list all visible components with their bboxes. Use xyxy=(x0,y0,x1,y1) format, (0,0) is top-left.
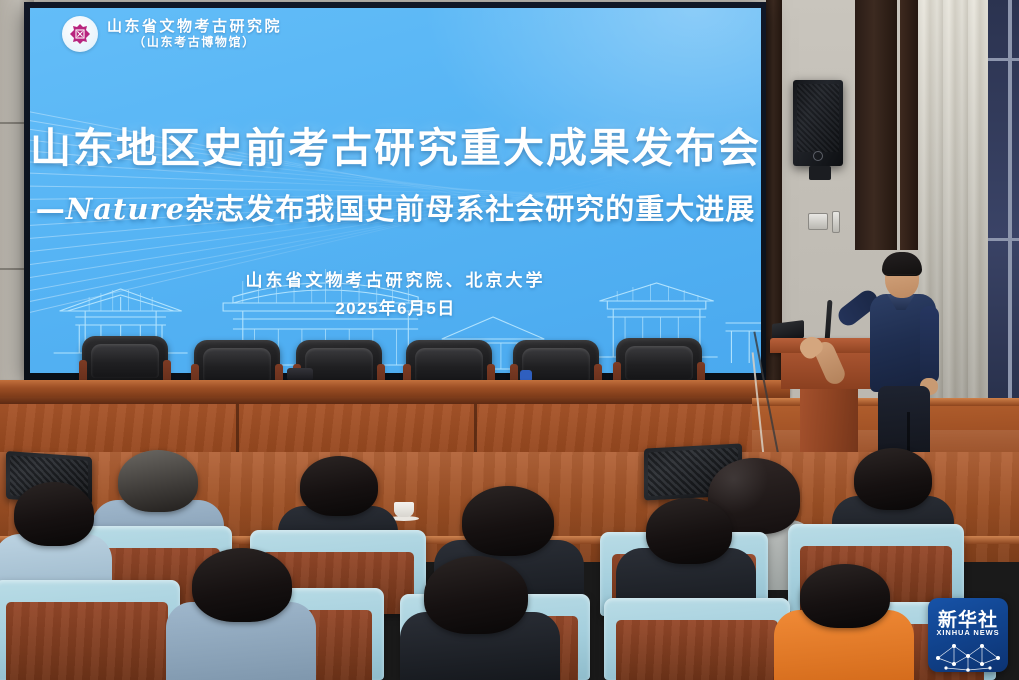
audience-foreground xyxy=(0,452,1019,680)
audience-head xyxy=(118,450,198,512)
audience-head xyxy=(646,498,732,564)
slide-subtitle: —Nature杂志发布我国史前母系社会研究的重大进展 xyxy=(30,186,761,228)
speaker-mount-bracket xyxy=(809,166,831,180)
audience-seat[interactable] xyxy=(0,580,180,680)
slide-date: 2025年6月5日 xyxy=(30,294,761,319)
audience-head xyxy=(192,548,292,622)
xinhua-network-icon xyxy=(928,638,1008,672)
eyeglasses-icon xyxy=(886,274,916,280)
window-mullion xyxy=(988,238,1019,241)
projection-screen: 山东省文物考古研究院 （山东考古博物馆） xyxy=(30,8,761,373)
speaker-hair xyxy=(882,252,922,276)
slide-organizers: 山东省文物考古研究院、北京大学 xyxy=(30,266,761,291)
xinhua-news-watermark: 新华社 XINHUA NEWS xyxy=(928,598,1008,672)
subtitle-dash: — xyxy=(36,192,66,226)
seal-emblem-icon xyxy=(62,16,98,52)
desk-lip xyxy=(0,397,790,404)
coffee-cup xyxy=(394,502,414,517)
wood-column xyxy=(855,0,897,250)
wood-column xyxy=(900,0,918,250)
wall-control-device[interactable] xyxy=(808,213,828,230)
speaker-right-arm xyxy=(920,306,939,384)
institute-name-line2: （山东考古博物馆） xyxy=(107,36,282,49)
slide-title: 山东地区史前考古研究重大成果发布会 xyxy=(30,114,761,174)
audience-head xyxy=(300,456,378,516)
subtitle-rest: 杂志发布我国史前母系社会研究的重大进展 xyxy=(185,192,755,226)
audience-head xyxy=(462,486,554,556)
projection-screen-bezel: 山东省文物考古研究院 （山东考古博物馆） xyxy=(24,2,766,380)
audience-head xyxy=(14,482,94,546)
audience-seat[interactable] xyxy=(604,598,790,680)
wall-loudspeaker-icon xyxy=(793,80,843,166)
institute-name-line1: 山东省文物考古研究院 xyxy=(107,19,282,36)
speaker-grille xyxy=(797,84,839,152)
audience-head xyxy=(854,448,932,510)
speaker-badge-icon xyxy=(813,151,823,161)
desk-top-surface xyxy=(0,380,790,397)
press-conference-photo: 山东省文物考古研究院 （山东考古博物馆） xyxy=(0,0,1019,680)
wall-sensor-device xyxy=(832,211,840,233)
institute-logo-lockup: 山东省文物考古研究院 （山东考古博物馆） xyxy=(62,16,282,52)
journal-name: Nature xyxy=(66,192,186,226)
xinhua-name-en: XINHUA NEWS xyxy=(928,628,1008,637)
window-mullion xyxy=(988,58,1019,61)
audience-head xyxy=(800,564,890,628)
audience-head xyxy=(424,556,528,634)
